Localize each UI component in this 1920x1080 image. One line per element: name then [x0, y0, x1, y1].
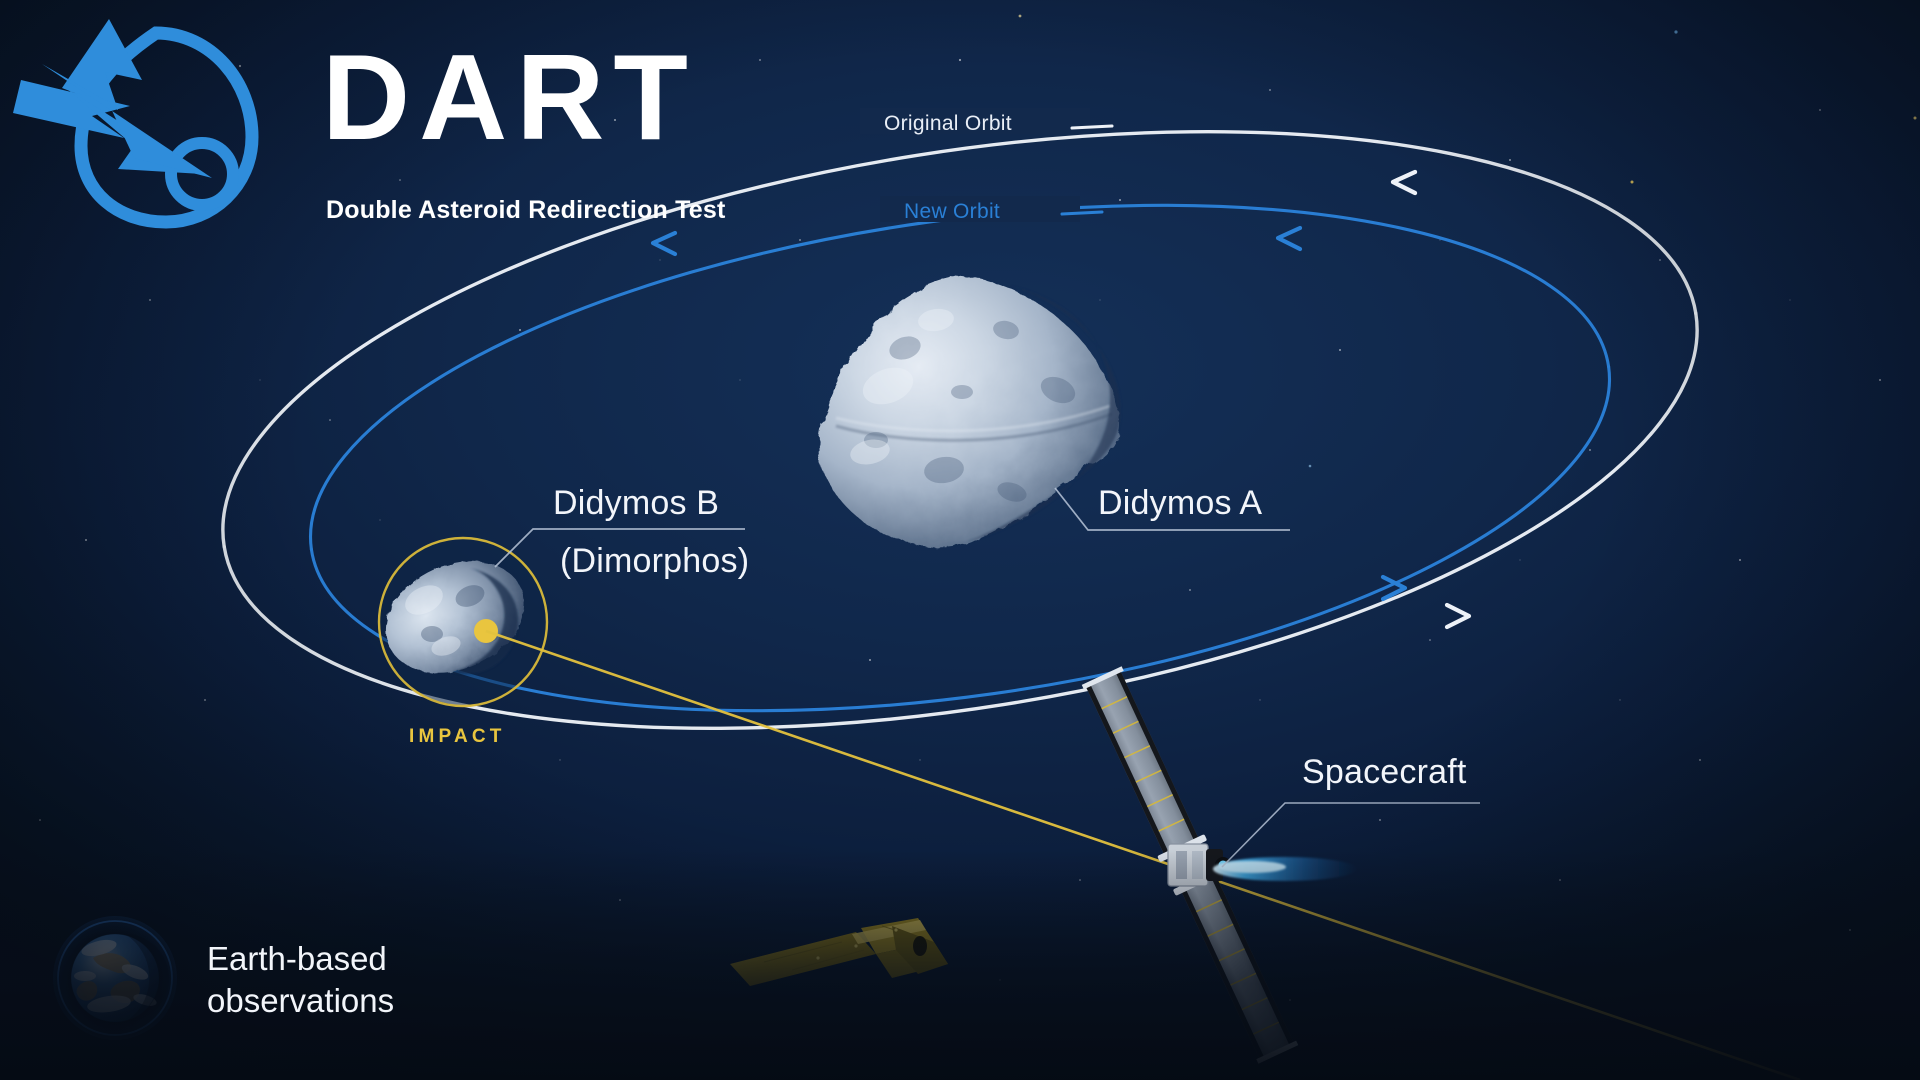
dart-mission-logo [6, 6, 306, 236]
dart-mission-diagram: DART Double Asteroid Redirection Test Or… [0, 0, 1920, 1080]
label-didymos-b: Didymos B [553, 484, 719, 523]
label-original-orbit: Original Orbit [884, 112, 1012, 136]
label-impact: IMPACT [409, 726, 506, 748]
dart-wordmark: DART [322, 36, 697, 158]
label-new-orbit: New Orbit [904, 200, 1000, 224]
mission-subtitle: Double Asteroid Redirection Test [326, 196, 726, 225]
label-dimorphos: (Dimorphos) [560, 542, 749, 581]
label-spacecraft: Spacecraft [1302, 753, 1467, 792]
label-earth-observations: Earth-based observations [207, 938, 394, 1022]
label-didymos-a: Didymos A [1098, 484, 1262, 523]
